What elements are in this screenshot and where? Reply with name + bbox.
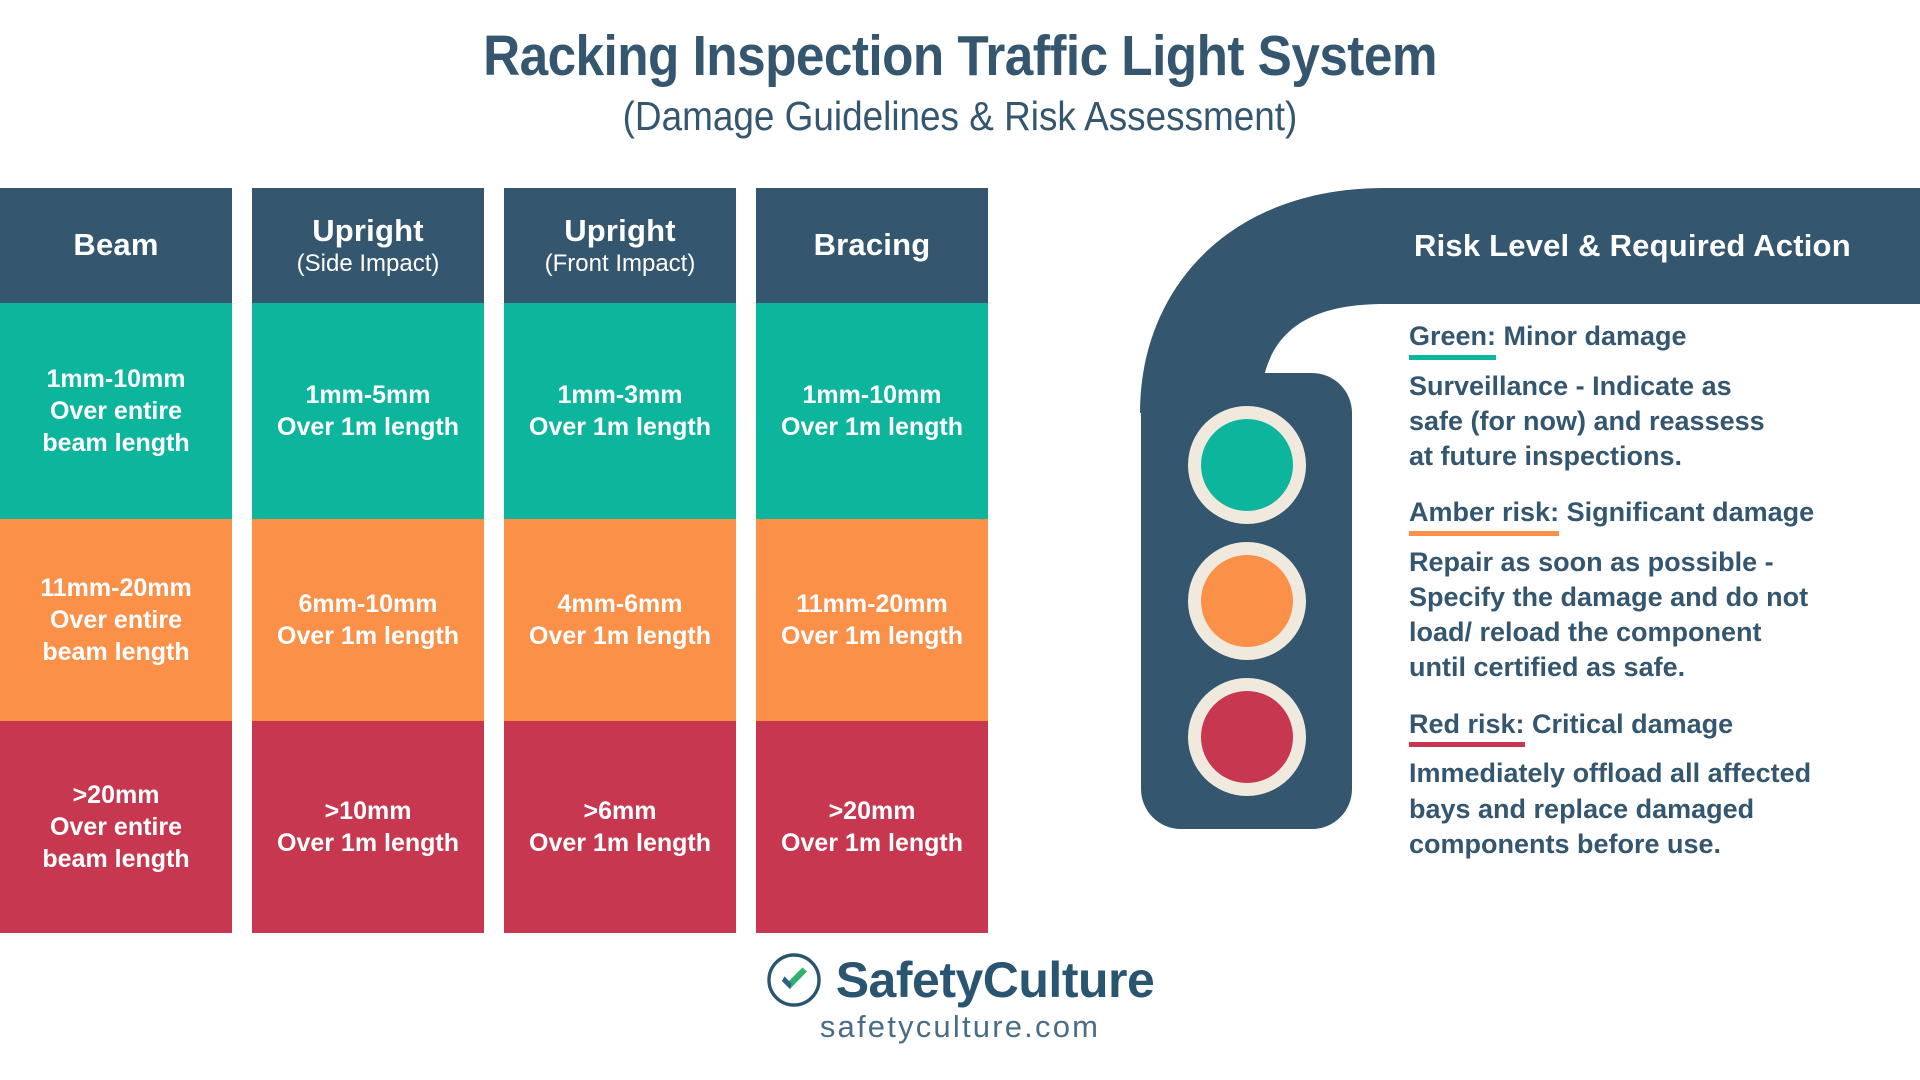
risk-action-line: load/ reload the component [1409,615,1909,650]
cell-damage-range: 11mm-20mm [40,572,191,604]
amber-lamp-core [1201,555,1293,647]
cell-scope-line: Over 1m length [277,620,459,652]
risk-action-green: Surveillance - Indicate assafe (for now)… [1409,369,1909,474]
risk-level-legend: Green: Minor damageSurveillance - Indica… [1409,320,1909,862]
table-cell-beam-red: >20mmOver entirebeam length [0,721,232,933]
column-header-sublabel: (Front Impact) [545,250,696,278]
risk-block-green: Green: Minor damageSurveillance - Indica… [1409,320,1909,474]
risk-summary-amber: Significant damage [1559,497,1814,527]
risk-action-line: safe (for now) and reassess [1409,404,1909,439]
cell-scope-line: Over 1m length [277,411,459,443]
table-cell-bracing-amber: 11mm-20mmOver 1m length [756,519,988,721]
cell-scope-line: beam length [42,843,189,875]
cell-scope-line: Over 1m length [781,620,963,652]
risk-action-line: at future inspections. [1409,439,1909,474]
table-cell-bracing-red: >20mmOver 1m length [756,721,988,933]
risk-action-line: until certified as safe. [1409,650,1909,685]
table-cell-upright-front-green: 1mm-3mmOver 1m length [504,303,736,519]
title-block: Racking Inspection Traffic Light System … [0,26,1920,139]
table-column-bracing: Bracing1mm-10mmOver 1m length11mm-20mmOv… [756,188,988,933]
risk-panel-banner-label: Risk Level & Required Action [1414,228,1851,264]
cell-scope-line: Over 1m length [529,411,711,443]
check-circle-icon [766,952,822,1008]
cell-scope-line: beam length [42,427,189,459]
red-lamp [1188,678,1306,796]
cell-scope-line: Over 1m length [529,620,711,652]
logo-row: SafetyCulture [766,952,1155,1008]
green-lamp-core [1201,419,1293,511]
table-cell-upright-front-amber: 4mm-6mmOver 1m length [504,519,736,721]
cell-scope-line: Over 1m length [277,827,459,859]
column-header-sublabel: (Side Impact) [297,250,440,278]
cell-scope-line: Over entire [50,604,182,636]
table-column-upright-side: Upright(Side Impact)1mm-5mmOver 1m lengt… [252,188,484,933]
risk-action-line: Immediately offload all affected [1409,756,1909,791]
table-cell-beam-amber: 11mm-20mmOver entirebeam length [0,519,232,721]
risk-action-red: Immediately offload all affectedbays and… [1409,756,1909,861]
column-header-label: Upright [564,214,676,249]
risk-heading-red: Red risk: Critical damage [1409,708,1909,741]
damage-guidelines-table: Beam1mm-10mmOver entirebeam length11mm-2… [0,188,1095,933]
risk-action-line: components before use. [1409,827,1909,862]
table-cell-upright-side-red: >10mmOver 1m length [252,721,484,933]
table-cell-bracing-green: 1mm-10mmOver 1m length [756,303,988,519]
table-column-upright-front: Upright(Front Impact)1mm-3mmOver 1m leng… [504,188,736,933]
risk-block-red: Red risk: Critical damageImmediately off… [1409,708,1909,862]
page-subtitle: (Damage Guidelines & Risk Assessment) [96,94,1824,139]
page-title: Racking Inspection Traffic Light System [96,26,1824,88]
risk-action-line: Surveillance - Indicate as [1409,369,1909,404]
cell-scope-line: Over 1m length [529,827,711,859]
table-cell-upright-side-amber: 6mm-10mmOver 1m length [252,519,484,721]
column-header-upright-front: Upright(Front Impact) [504,188,736,303]
cell-damage-range: >20mm [73,779,160,811]
cell-scope-line: Over 1m length [781,411,963,443]
risk-heading-amber: Amber risk: Significant damage [1409,496,1909,529]
cell-damage-range: 1mm-3mm [557,379,682,411]
table-cell-beam-green: 1mm-10mmOver entirebeam length [0,303,232,519]
cell-damage-range: 1mm-5mm [305,379,430,411]
red-lamp-core [1201,691,1293,783]
risk-summary-green: Minor damage [1496,321,1687,351]
brand-name: SafetyCulture [836,955,1155,1005]
brand-url: safetyculture.com [820,1010,1100,1044]
amber-lamp [1188,542,1306,660]
risk-action-amber: Repair as soon as possible -Specify the … [1409,545,1909,685]
footer-branding: SafetyCulture safetyculture.com [0,952,1920,1044]
cell-damage-range: 6mm-10mm [299,588,438,620]
column-header-label: Beam [73,228,158,263]
cell-scope-line: Over 1m length [781,827,963,859]
cell-damage-range: 11mm-20mm [796,588,947,620]
green-lamp [1188,406,1306,524]
risk-summary-red: Critical damage [1525,709,1734,739]
table-cell-upright-front-red: >6mmOver 1m length [504,721,736,933]
risk-key-amber: Amber risk: [1409,496,1559,529]
risk-key-red: Red risk: [1409,708,1525,741]
cell-damage-range: 4mm-6mm [557,588,682,620]
table-cell-upright-side-green: 1mm-5mmOver 1m length [252,303,484,519]
risk-action-line: Specify the damage and do not [1409,580,1909,615]
table-column-beam: Beam1mm-10mmOver entirebeam length11mm-2… [0,188,232,933]
column-header-beam: Beam [0,188,232,303]
column-header-label: Upright [312,214,424,249]
infographic-root: Racking Inspection Traffic Light System … [0,0,1920,1080]
risk-heading-green: Green: Minor damage [1409,320,1909,353]
column-header-bracing: Bracing [756,188,988,303]
column-header-label: Bracing [814,228,931,263]
cell-damage-range: >10mm [325,795,412,827]
cell-scope-line: Over entire [50,811,182,843]
cell-damage-range: 1mm-10mm [803,379,942,411]
risk-key-green: Green: [1409,320,1496,353]
traffic-light-graphic [1141,373,1352,829]
risk-block-amber: Amber risk: Significant damageRepair as … [1409,496,1909,685]
risk-action-line: Repair as soon as possible - [1409,545,1909,580]
cell-scope-line: beam length [42,636,189,668]
cell-damage-range: >6mm [584,795,657,827]
cell-scope-line: Over entire [50,395,182,427]
risk-panel-banner: Risk Level & Required Action [1384,188,1920,304]
cell-damage-range: 1mm-10mm [47,363,186,395]
cell-damage-range: >20mm [829,795,916,827]
risk-action-line: bays and replace damaged [1409,792,1909,827]
column-header-upright-side: Upright(Side Impact) [252,188,484,303]
